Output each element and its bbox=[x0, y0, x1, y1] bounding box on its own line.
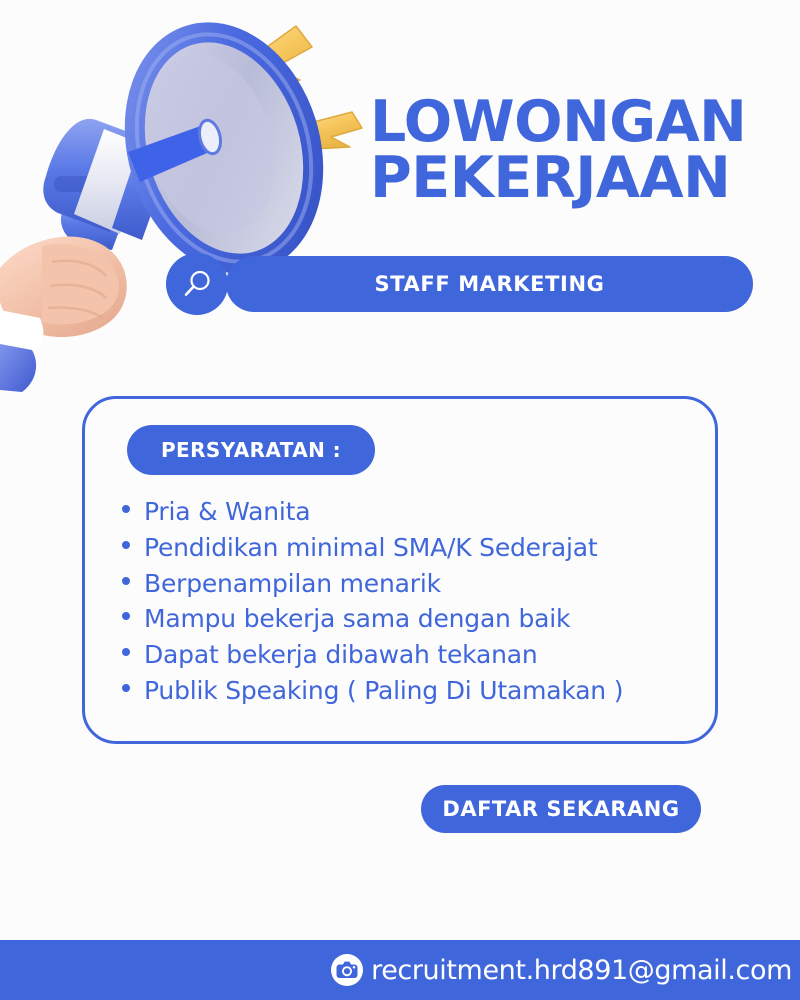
requirements-title: PERSYARATAN : bbox=[161, 438, 341, 462]
list-item-label: Dapat bekerja dibawah tekanan bbox=[144, 637, 538, 673]
headline-line-2: PEKERJAAN bbox=[370, 150, 770, 206]
bullet-dot-icon bbox=[122, 541, 130, 549]
megaphone-body bbox=[43, 119, 172, 240]
register-now-button[interactable]: DAFTAR SEKARANG bbox=[421, 785, 701, 833]
megaphone-inner-tube bbox=[128, 118, 224, 182]
bullet-dot-icon bbox=[122, 648, 130, 656]
hand-grip bbox=[0, 236, 127, 337]
megaphone-illustration bbox=[0, 0, 380, 400]
bullet-dot-icon bbox=[122, 612, 130, 620]
list-item: Mampu bekerja sama dengan baik bbox=[122, 601, 702, 637]
headline-line-1: LOWONGAN bbox=[370, 94, 770, 150]
requirements-title-pill: PERSYARATAN : bbox=[127, 425, 375, 475]
list-item: Pria & Wanita bbox=[122, 494, 702, 530]
list-item-label: Mampu bekerja sama dengan baik bbox=[144, 601, 570, 637]
list-item-label: Pendidikan minimal SMA/K Sederajat bbox=[144, 530, 598, 566]
megaphone-cone bbox=[107, 10, 340, 286]
list-item: Dapat bekerja dibawah tekanan bbox=[122, 637, 702, 673]
list-item-label: Pria & Wanita bbox=[144, 494, 310, 530]
list-item-label: Berpenampilan menarik bbox=[144, 566, 441, 602]
register-now-label: DAFTAR SEKARANG bbox=[442, 797, 679, 821]
lightning-bolt-right bbox=[296, 112, 362, 150]
position-title: STAFF MARKETING bbox=[375, 272, 605, 296]
bullet-dot-icon bbox=[122, 684, 130, 692]
contact-email-group[interactable]: recruitment.hrd891@gmail.com bbox=[330, 953, 800, 987]
list-item-label: Publik Speaking ( Paling Di Utamakan ) bbox=[144, 673, 623, 709]
page-title: LOWONGAN PEKERJAAN bbox=[370, 94, 770, 207]
footer-bar: recruitment.hrd891@gmail.com bbox=[0, 940, 800, 1000]
list-item: Pendidikan minimal SMA/K Sederajat bbox=[122, 530, 702, 566]
requirements-list: Pria & Wanita Pendidikan minimal SMA/K S… bbox=[122, 494, 702, 709]
list-item: Berpenampilan menarik bbox=[122, 566, 702, 602]
lightning-bolt-bottom bbox=[226, 182, 290, 216]
sleeve bbox=[0, 310, 43, 392]
instagram-camera-icon bbox=[330, 953, 364, 987]
position-banner: STAFF MARKETING bbox=[226, 256, 753, 312]
search-badge[interactable] bbox=[166, 253, 228, 315]
magnifier-icon bbox=[180, 267, 214, 301]
contact-email: recruitment.hrd891@gmail.com bbox=[371, 955, 792, 986]
megaphone-handle bbox=[61, 202, 124, 250]
list-item: Publik Speaking ( Paling Di Utamakan ) bbox=[122, 673, 702, 709]
lightning-bolt-top bbox=[240, 26, 312, 101]
bullet-dot-icon bbox=[122, 577, 130, 585]
job-vacancy-poster: LOWONGAN PEKERJAAN STAFF MARKETING PERSY… bbox=[0, 0, 800, 1000]
bullet-dot-icon bbox=[122, 505, 130, 513]
